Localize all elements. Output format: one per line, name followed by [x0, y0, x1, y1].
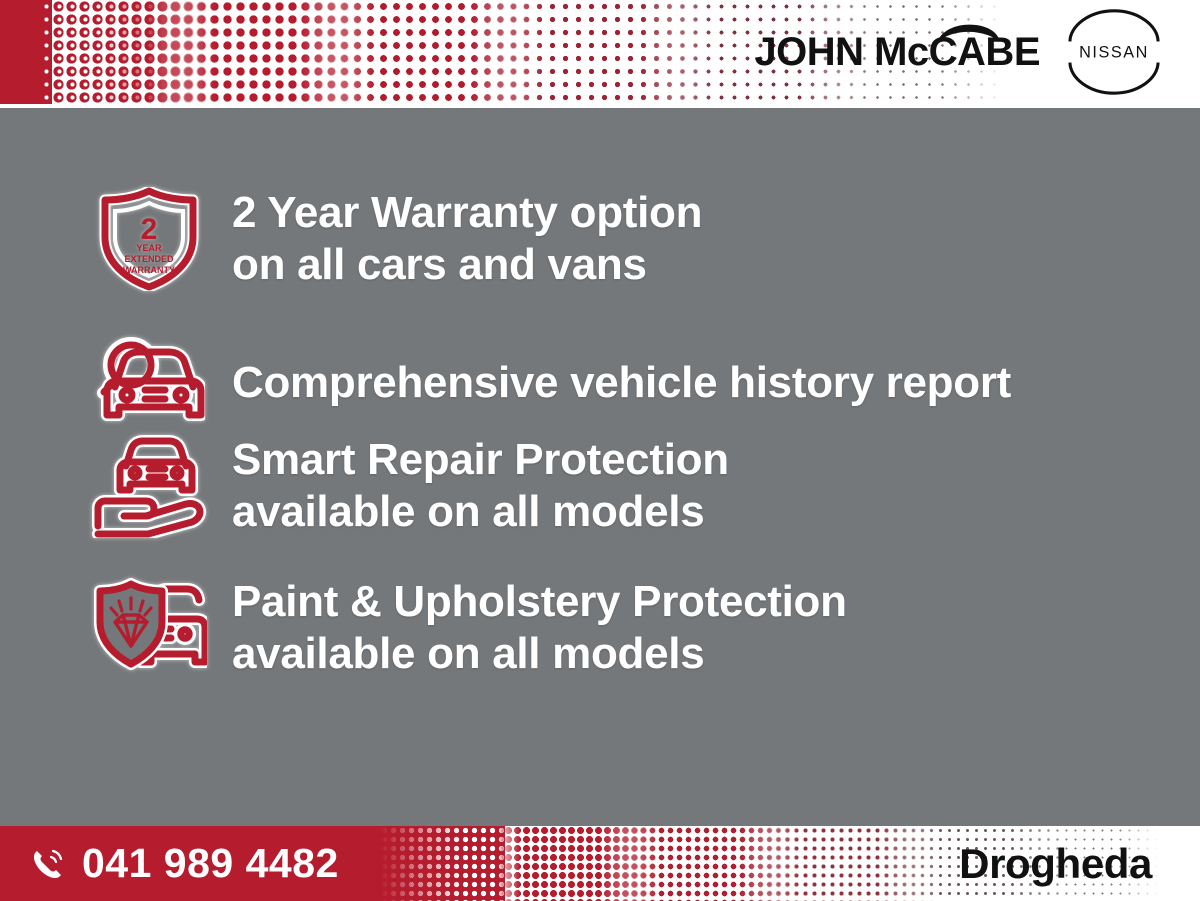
feature-label: Paint & Upholstery Protection available … — [232, 576, 847, 681]
brand-lockup: JOHN McCABE NISSAN — [754, 0, 1162, 104]
features-panel: 2 YEAR EXTENDED WARRANTY 2 Year Warranty… — [0, 108, 1200, 826]
feature-label: 2 Year Warranty option on all cars and v… — [232, 187, 702, 292]
dealership-promo-poster: JOHN McCABE NISSAN — [0, 0, 1200, 901]
phone-icon — [30, 847, 64, 881]
shield-warranty-icon: 2 YEAR EXTENDED WARRANTY — [88, 186, 210, 292]
feature-label: Comprehensive vehicle history report — [232, 357, 1011, 409]
header-halftone-knockout — [40, 0, 170, 104]
phone-contact[interactable]: 041 989 4482 — [30, 826, 339, 901]
dealer-name-text: JOHN McCABE — [754, 30, 1040, 74]
feature-item: 2 YEAR EXTENDED WARRANTY 2 Year Warranty… — [88, 186, 702, 292]
dealer-name: JOHN McCABE — [754, 30, 1040, 75]
features-list: 2 YEAR EXTENDED WARRANTY 2 Year Warranty… — [0, 108, 1200, 826]
feature-item: Comprehensive vehicle history report — [88, 330, 1011, 436]
header-bar: JOHN McCABE NISSAN — [0, 0, 1200, 104]
car-on-hand-icon — [88, 433, 210, 539]
feature-item: Smart Repair Protection available on all… — [88, 433, 729, 539]
badge-line2: EXTENDED — [124, 254, 174, 264]
feature-item: Paint & Upholstery Protection available … — [88, 575, 847, 681]
nissan-logo: NISSAN — [1066, 7, 1162, 97]
shield-diamond-car-icon — [88, 575, 210, 681]
badge-line1: YEAR — [136, 243, 162, 253]
badge-line3: WARRANTY — [123, 265, 175, 275]
phone-number: 041 989 4482 — [82, 840, 339, 887]
badge-number: 2 — [141, 213, 158, 246]
car-magnifier-icon — [88, 330, 210, 436]
feature-label: Smart Repair Protection available on all… — [232, 434, 729, 539]
svg-text:NISSAN: NISSAN — [1079, 44, 1149, 62]
footer-bar: 041 989 4482 Drogheda — [0, 826, 1200, 901]
location-label: Drogheda — [959, 826, 1152, 901]
